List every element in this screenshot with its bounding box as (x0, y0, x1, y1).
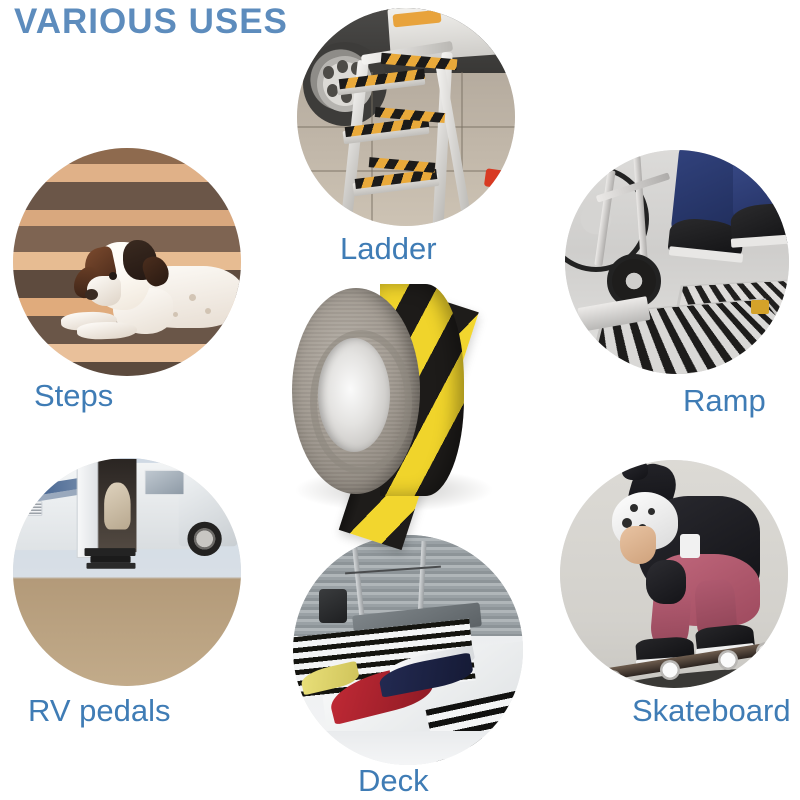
use-label-steps: Steps (34, 378, 113, 414)
rv-fold-out-step (85, 548, 136, 556)
use-image-deck (293, 535, 523, 765)
use-image-ladder (297, 8, 515, 226)
use-label-deck: Deck (358, 763, 429, 799)
infographic-page: VARIOUS USES Steps (0, 0, 800, 800)
tape-roll-core (318, 338, 390, 452)
use-image-ramp (565, 150, 789, 374)
use-image-skateboard (560, 460, 788, 688)
page-title: VARIOUS USES (14, 2, 288, 42)
use-label-rv-pedals: RV pedals (28, 693, 170, 729)
use-label-skateboard: Skateboard (632, 693, 791, 729)
use-image-steps (13, 148, 241, 376)
product-tape-roll (288, 282, 550, 542)
use-image-rv-pedals (13, 458, 241, 686)
use-label-ramp: Ramp (683, 383, 766, 419)
use-label-ladder: Ladder (340, 231, 437, 267)
